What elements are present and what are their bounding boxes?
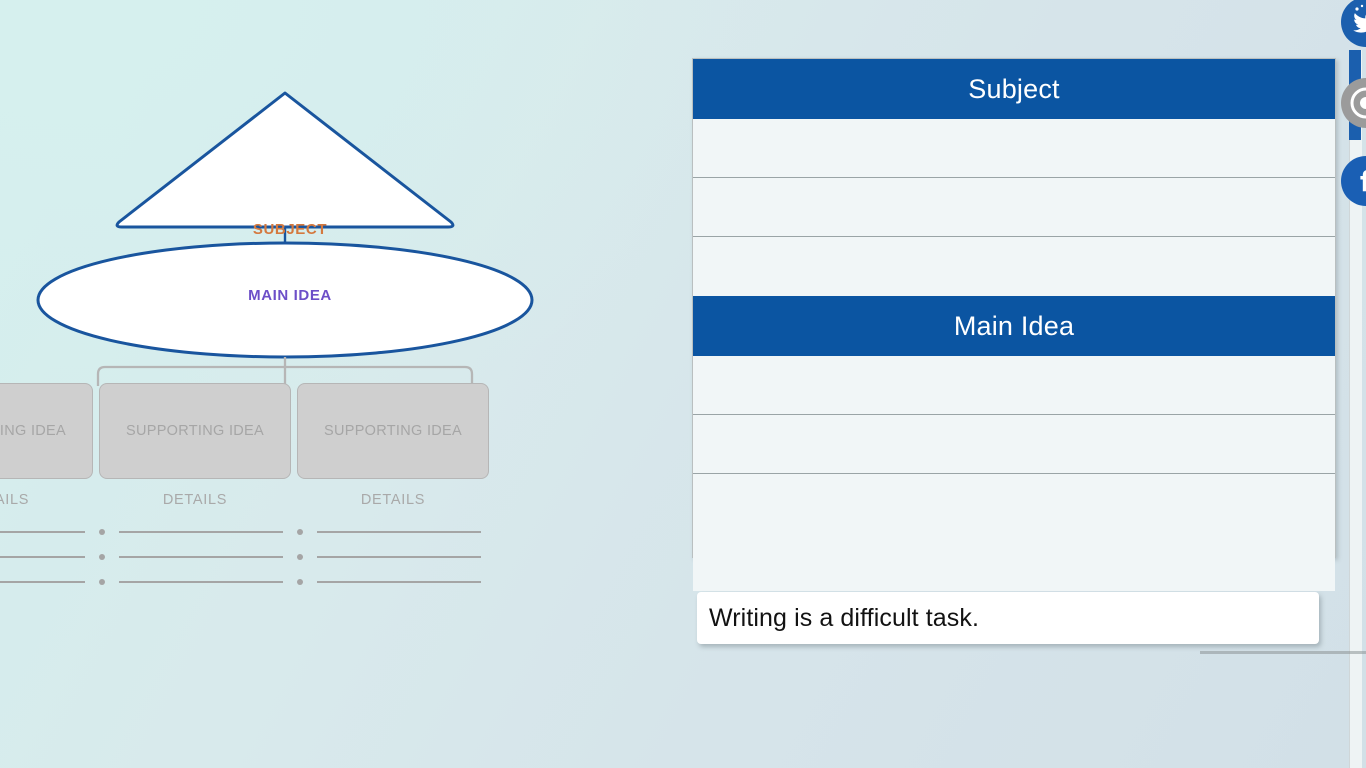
detail-line[interactable]	[0, 544, 93, 569]
twitter-bird-glyph	[1341, 0, 1366, 47]
details-title: DETAILS	[99, 492, 291, 508]
supporting-idea-label: SUPPORTING IDEA	[324, 423, 462, 439]
detail-line[interactable]	[99, 544, 291, 569]
supporting-idea-label: SUPPORTING IDEA	[126, 423, 264, 439]
details-title: DETAILS	[297, 492, 489, 508]
table-header-subject: Subject	[693, 59, 1335, 119]
bullet-icon	[297, 554, 303, 560]
supporting-idea-box-2[interactable]: SUPPORTING IDEA	[99, 383, 291, 479]
details-row: DETAILS DETAILS	[0, 492, 591, 602]
table-header-main-idea: Main Idea	[693, 296, 1335, 356]
slide-canvas: SUBJECT MAIN IDEA SUPPORTING IDEA SUPPOR…	[0, 0, 1366, 768]
subject-label: SUBJECT	[0, 221, 585, 238]
sentence-text: Writing is a difficult task.	[709, 604, 979, 633]
supporting-idea-row: SUPPORTING IDEA SUPPORTING IDEA SUPPORTI…	[0, 383, 591, 481]
bullet-icon	[99, 579, 105, 585]
table-row[interactable]	[693, 178, 1335, 237]
details-column-3: DETAILS	[297, 492, 489, 594]
supporting-idea-box-1[interactable]: SUPPORTING IDEA	[0, 383, 93, 479]
detail-line[interactable]	[297, 569, 489, 594]
detail-rule	[119, 531, 283, 533]
table-row[interactable]	[693, 119, 1335, 178]
sentence-text-box[interactable]: Writing is a difficult task.	[697, 592, 1319, 644]
bullet-icon	[99, 554, 105, 560]
subject-triangle[interactable]	[117, 93, 453, 227]
detail-line[interactable]	[99, 569, 291, 594]
table-row[interactable]	[693, 237, 1335, 296]
table-row[interactable]	[693, 474, 1335, 533]
details-column-2: DETAILS	[99, 492, 291, 594]
panel-shadow-divider	[1200, 651, 1366, 654]
pinterest-p-glyph	[1341, 78, 1366, 128]
pinterest-icon[interactable]	[1341, 78, 1366, 128]
subject-main-idea-table[interactable]: Subject Main Idea	[692, 58, 1336, 558]
detail-line[interactable]	[297, 519, 489, 544]
supporting-connector	[98, 357, 472, 386]
detail-rule	[119, 581, 283, 583]
facebook-icon[interactable]: f	[1341, 156, 1366, 206]
supporting-idea-label: SUPPORTING IDEA	[0, 423, 66, 439]
graphic-organizer[interactable]: SUBJECT MAIN IDEA SUPPORTING IDEA SUPPOR…	[0, 60, 595, 600]
detail-line[interactable]	[0, 519, 93, 544]
supporting-idea-box-3[interactable]: SUPPORTING IDEA	[297, 383, 489, 479]
details-title: DETAILS	[0, 492, 93, 508]
detail-rule	[0, 581, 85, 583]
detail-line[interactable]	[99, 519, 291, 544]
details-column-1: DETAILS	[0, 492, 93, 594]
main-idea-label: MAIN IDEA	[0, 287, 585, 304]
detail-rule	[119, 556, 283, 558]
bullet-icon	[297, 529, 303, 535]
detail-rule	[0, 531, 85, 533]
detail-rule	[317, 581, 481, 583]
detail-line[interactable]	[297, 544, 489, 569]
bullet-icon	[297, 579, 303, 585]
table-row-filler	[693, 533, 1335, 591]
bullet-icon	[99, 529, 105, 535]
twitter-icon[interactable]	[1341, 0, 1366, 47]
detail-rule	[317, 556, 481, 558]
facebook-f-glyph: f	[1341, 156, 1366, 206]
detail-rule	[0, 556, 85, 558]
table-row[interactable]	[693, 415, 1335, 474]
table-row[interactable]	[693, 356, 1335, 415]
detail-rule	[317, 531, 481, 533]
detail-line[interactable]	[0, 569, 93, 594]
